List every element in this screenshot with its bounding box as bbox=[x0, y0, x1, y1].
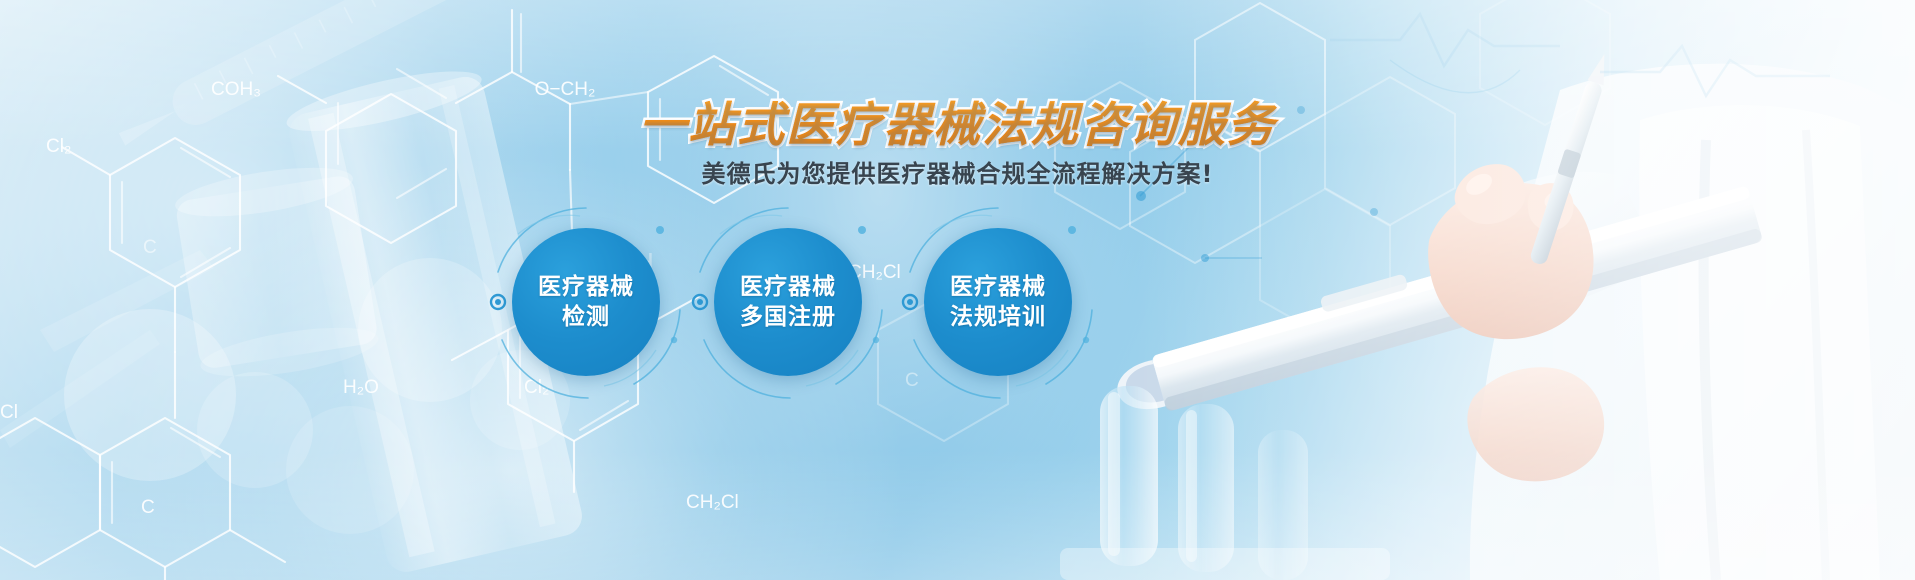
subtitle: 美德氏为您提供医疗器械合规全流程解决方案! bbox=[0, 154, 1915, 189]
service-label-line1: 医疗器械 bbox=[950, 272, 1046, 302]
service-circles: 医疗器械 检测 医疗器械 bbox=[0, 228, 1915, 428]
service-circle-body[interactable]: 医疗器械 法规培训 bbox=[924, 228, 1072, 376]
hero-banner: Cl₂ COH₃ O−CH₂ CH₂Cl H₂O Cl Cl₂ CH₂Cl C … bbox=[0, 0, 1915, 580]
service-circle-registration[interactable]: 医疗器械 多国注册 bbox=[714, 228, 862, 376]
service-label-line1: 医疗器械 bbox=[740, 272, 836, 302]
top-haze bbox=[0, 0, 1915, 150]
bottom-haze bbox=[0, 450, 1915, 580]
service-label-line2: 检测 bbox=[562, 302, 610, 332]
service-circle-body[interactable]: 医疗器械 多国注册 bbox=[714, 228, 862, 376]
service-label-line1: 医疗器械 bbox=[538, 272, 634, 302]
service-circle-body[interactable]: 医疗器械 检测 bbox=[512, 228, 660, 376]
service-label-line2: 法规培训 bbox=[950, 302, 1046, 332]
service-circle-training[interactable]: 医疗器械 法规培训 bbox=[924, 228, 1072, 376]
service-circle-testing[interactable]: 医疗器械 检测 bbox=[512, 228, 660, 376]
service-label-line2: 多国注册 bbox=[740, 302, 836, 332]
